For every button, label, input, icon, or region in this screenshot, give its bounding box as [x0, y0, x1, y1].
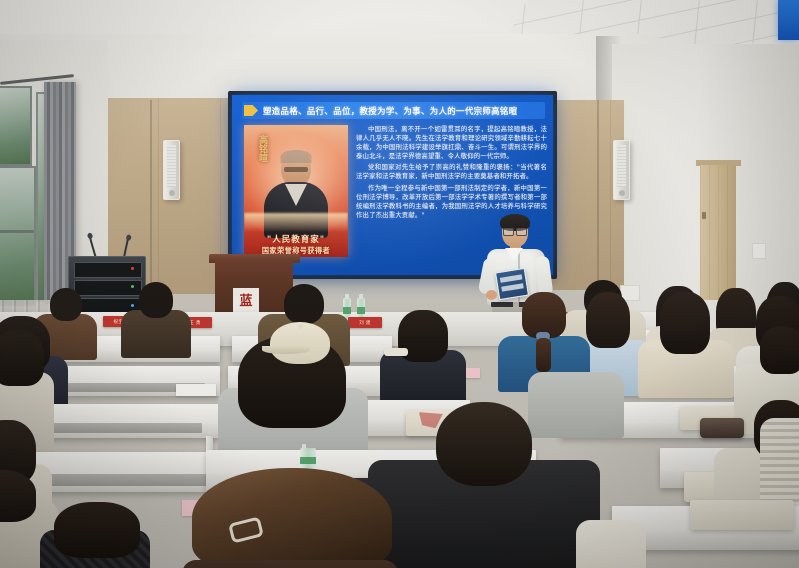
lens-left [503, 228, 514, 236]
torso [528, 372, 624, 438]
window-upper [0, 86, 32, 166]
water-bottle-head-3 [357, 298, 365, 318]
namecard-4-label: 刘 建 [359, 320, 371, 326]
portrait-caption-line1: "人民教育家" [244, 235, 348, 246]
cap-brim [262, 346, 310, 354]
window-glass-upper [0, 88, 30, 164]
window-glass-lower [0, 168, 34, 304]
window-mullion [0, 230, 34, 233]
portrait-vertical-name: 高铭暄 [250, 135, 266, 162]
av-led-red [131, 267, 134, 270]
speaker-port-left [169, 190, 175, 196]
hair [54, 502, 140, 558]
side-door[interactable] [700, 165, 736, 300]
presenter-book [495, 268, 529, 300]
av-led-blue [131, 304, 134, 307]
slide-title-bar: 塑造品格、品行、品位，教授为学、为事、为人的一代宗师高铭暄 [242, 102, 545, 119]
arrow-marker-icon [244, 105, 258, 116]
slide-title: 塑造品格、品行、品位，教授为学、为事、为人的一代宗师高铭暄 [263, 105, 517, 117]
head [139, 282, 173, 318]
cap-button [298, 324, 303, 329]
white-paper-row2 [176, 384, 216, 396]
head [436, 402, 532, 486]
presenter-hand [486, 290, 497, 300]
corner-blue-monitor [778, 0, 799, 40]
hair [760, 326, 799, 374]
wall-speaker-left [163, 140, 180, 200]
speaker-grille-right [617, 145, 626, 187]
head [50, 288, 82, 321]
window-lower [0, 166, 36, 306]
tote-bag-row5 [690, 500, 794, 530]
namecard-4: 刘 建 [348, 317, 382, 328]
portrait-card: 高铭暄 "人民教育家" 国家荣誉称号获得者 [244, 125, 348, 257]
head [284, 284, 324, 324]
av-led-green [131, 285, 134, 288]
book-page-2 [501, 283, 524, 291]
speaker-grille-left [167, 145, 176, 187]
portrait-glasses-icon [284, 167, 308, 172]
hair [660, 292, 710, 354]
book-page-1 [500, 274, 523, 282]
av-unit-1 [74, 262, 142, 278]
wall-speaker-right [613, 140, 630, 200]
portrait-caption: "人民教育家" 国家荣誉称号获得者 [244, 235, 348, 255]
wall-seam-2 [597, 100, 599, 285]
speaker-port-right [619, 190, 625, 196]
portrait-hair [281, 150, 312, 163]
hair [192, 468, 392, 568]
torso [576, 520, 646, 568]
torso [182, 560, 398, 568]
door-knob-icon[interactable] [702, 212, 706, 219]
presenter-belt-buckle [513, 302, 519, 307]
hair [586, 292, 630, 348]
purse-row3 [700, 418, 744, 438]
portrait-light-base [244, 213, 348, 231]
slide-paragraph-1: 中国刑法，离不开一个如雷贯耳的名字，提起高铭暄教授，法律人几乎无人不晓。先生在法… [356, 125, 547, 161]
ponytail [536, 338, 551, 372]
wall-seam-1 [150, 100, 152, 290]
lecture-hall-photo: 塑造品格、品行、品位，教授为学、为事、为人的一代宗师高铭暄 高铭暄 "人民教育家… [0, 0, 799, 568]
presenter-glasses-icon [503, 228, 527, 234]
av-unit-2 [74, 280, 142, 296]
torso [760, 418, 799, 508]
lens-right [516, 228, 527, 236]
wall-outlet [752, 243, 766, 259]
water-bottle-head-2 [343, 298, 351, 318]
collar-white [384, 348, 408, 356]
podium-emblem-text: 蓝 [239, 295, 252, 308]
podium-emblem: 蓝 [233, 288, 259, 314]
hair [0, 330, 44, 386]
slide-paragraph-2: 党和国家对先生给予了崇高的礼赞和隆重的褒扬："当代著名法学家和法学教育家，新中国… [356, 163, 547, 181]
